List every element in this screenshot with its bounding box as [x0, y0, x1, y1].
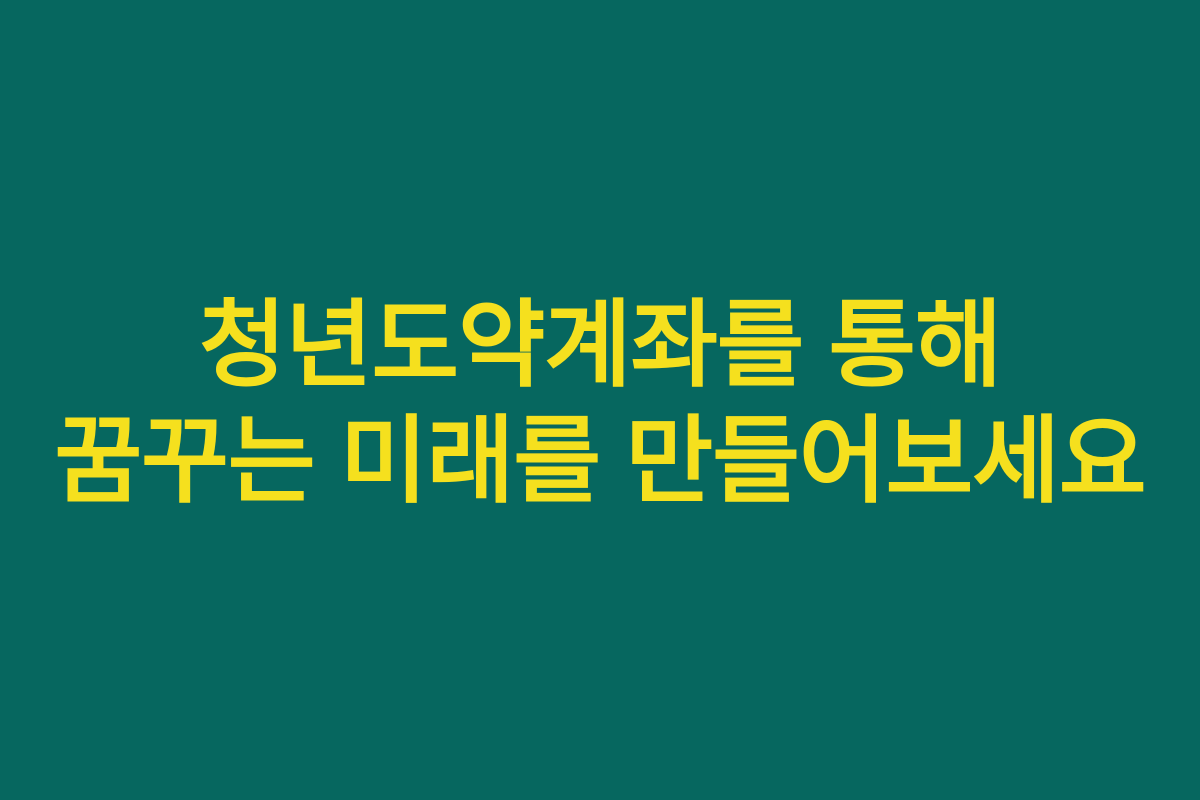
- headline-line-2: 꿈꾸는 미래를 만들어보세요: [54, 413, 1145, 508]
- headline-block: 청년도약계좌를 통해 꿈꾸는 미래를 만들어보세요: [0, 301, 1200, 505]
- headline-line-1: 청년도약계좌를 통해: [199, 297, 1001, 392]
- promo-banner: 청년도약계좌를 통해 꿈꾸는 미래를 만들어보세요: [0, 0, 1200, 800]
